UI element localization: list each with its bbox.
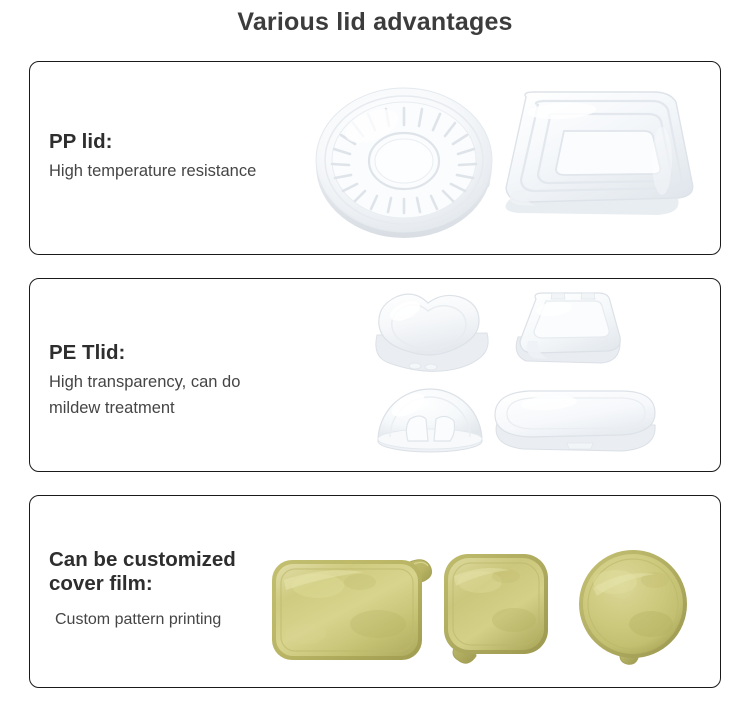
- gold-round-foil-lid-image: [565, 544, 705, 669]
- card-film-text-block: Can be customized cover film: Custom pat…: [49, 548, 236, 633]
- pe-oval-lid-image: [485, 383, 670, 463]
- card-film-subtitle: Custom pattern printing: [49, 601, 236, 633]
- card-pe-lid: PE Tlid: High transparency, can do milde…: [29, 278, 721, 472]
- gold-square-foil-lid-image: [430, 548, 570, 668]
- card-pe-text-block: PE Tlid: High transparency, can do milde…: [49, 341, 240, 421]
- pe-heart-dome-lid-image: [355, 285, 505, 380]
- card-pe-heading: PE Tlid:: [49, 341, 240, 365]
- pe-square-dome-lid-image: [500, 285, 640, 380]
- card-pp-text-block: PP lid: High temperature resistance: [49, 130, 256, 185]
- card-pp-heading: PP lid:: [49, 130, 256, 154]
- page-title: Various lid advantages: [0, 8, 750, 37]
- pp-rectangular-lid-image: [480, 77, 710, 242]
- card-pe-subtitle: High transparency, can do mildew treatme…: [49, 370, 240, 421]
- gold-rectangular-foil-lid-image: [260, 546, 445, 666]
- pe-round-dome-lid-image: [360, 375, 500, 465]
- card-film-heading: Can be customized cover film:: [49, 548, 236, 596]
- card-pp-lid: PP lid: High temperature resistance: [29, 61, 721, 255]
- card-cover-film: Can be customized cover film: Custom pat…: [29, 495, 721, 688]
- card-pp-subtitle: High temperature resistance: [49, 159, 256, 185]
